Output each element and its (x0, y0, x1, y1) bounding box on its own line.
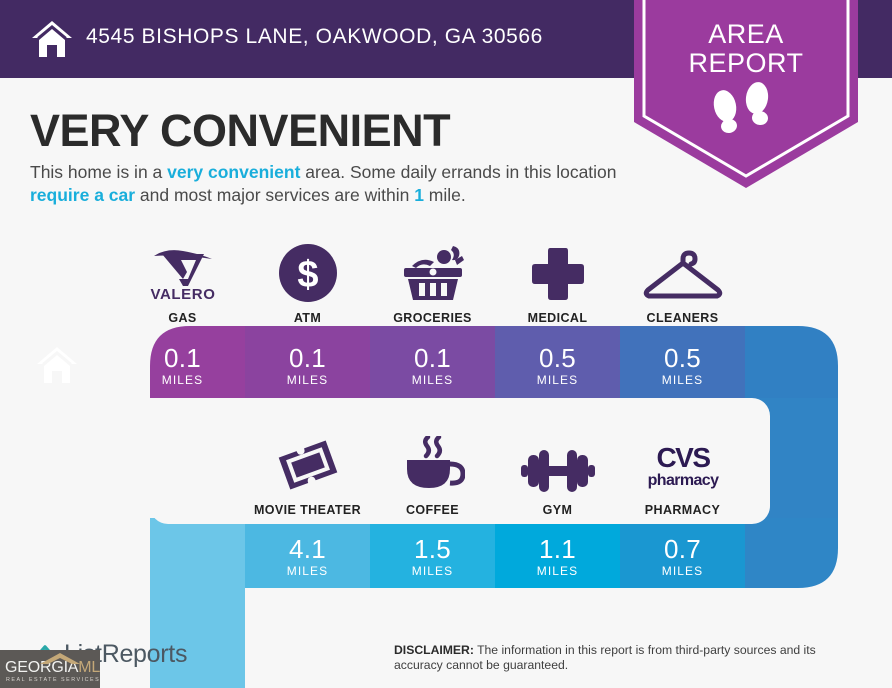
value-gas: 0.1 MILES (120, 345, 245, 387)
summary-part-4: mile. (424, 185, 466, 205)
ribbon-home-icon (36, 345, 78, 385)
value-coffee-number: 1.5 (370, 536, 495, 563)
value-groceries-number: 0.1 (370, 345, 495, 372)
category-gas: VALERO GAS (120, 240, 245, 325)
value-pharmacy-unit: MILES (620, 564, 745, 578)
category-gym-label: GYM (495, 503, 620, 517)
value-atm: 0.1 MILES (245, 345, 370, 387)
svg-text:CVS: CVS (656, 442, 710, 473)
svg-text:$: $ (297, 254, 318, 296)
value-gym-unit: MILES (495, 564, 620, 578)
category-medical-label: MEDICAL (495, 311, 620, 325)
category-groceries-label: GROCERIES (370, 311, 495, 325)
badge-line-1: AREA (634, 20, 858, 49)
value-cleaners-unit: MILES (620, 373, 745, 387)
summary-part-3: and most major services are within (135, 185, 414, 205)
coffee-cup-icon (370, 432, 495, 494)
value-coffee-unit: MILES (370, 564, 495, 578)
notch-card-lower (245, 588, 892, 688)
area-report-infographic: 4545 BISHOPS LANE, OAKWOOD, GA 30566 ARE… (0, 0, 892, 688)
basket-icon (370, 240, 495, 302)
value-medical-number: 0.5 (495, 345, 620, 372)
category-coffee: COFFEE (370, 432, 495, 517)
movie-ticket-icon (245, 432, 370, 494)
cvs-pharmacy-icon: CVS pharmacy (620, 432, 745, 494)
value-atm-number: 0.1 (245, 345, 370, 372)
category-atm-label: ATM (245, 311, 370, 325)
category-pharmacy-label: PHARMACY (620, 503, 745, 517)
value-cleaners: 0.5 MILES (620, 345, 745, 387)
category-pharmacy: CVS pharmacy PHARMACY (620, 432, 745, 517)
value-groceries: 0.1 MILES (370, 345, 495, 387)
georgia-mls-logo: GEORGIAMLS REAL ESTATE SERVICES (0, 650, 100, 688)
value-pharmacy: 0.7 MILES (620, 536, 745, 578)
summary-highlight-1: very convenient (167, 162, 300, 182)
georgia-mls-roof-icon (38, 651, 82, 665)
disclaimer-label: DISCLAIMER: (394, 643, 474, 657)
svg-text:VALERO: VALERO (150, 286, 215, 302)
summary-part-2: area. Some daily errands in this locatio… (300, 162, 616, 182)
area-report-badge: AREA REPORT (634, 0, 858, 188)
summary-text: This home is in a very convenient area. … (30, 161, 630, 207)
category-medical: MEDICAL (495, 240, 620, 325)
value-groceries-unit: MILES (370, 373, 495, 387)
summary-highlight-2: require a car (30, 185, 135, 205)
category-cleaners-label: CLEANERS (620, 311, 745, 325)
value-medical-unit: MILES (495, 373, 620, 387)
category-atm: $ ATM (245, 240, 370, 325)
ribbon-seg-tail-2 (745, 518, 890, 588)
summary-part-1: This home is in a (30, 162, 167, 182)
value-gym: 1.1 MILES (495, 536, 620, 578)
value-pharmacy-number: 0.7 (620, 536, 745, 563)
value-gas-number: 0.1 (120, 345, 245, 372)
category-groceries: GROCERIES (370, 240, 495, 325)
badge-title: AREA REPORT (634, 20, 858, 78)
category-gas-label: GAS (120, 311, 245, 325)
summary-highlight-3: 1 (414, 185, 424, 205)
ribbon-seg-tail-1 (745, 326, 890, 398)
value-coffee: 1.5 MILES (370, 536, 495, 578)
svg-text:pharmacy: pharmacy (647, 472, 718, 489)
value-gas-unit: MILES (120, 373, 245, 387)
valero-gas-icon: VALERO (120, 240, 245, 302)
category-coffee-label: COFFEE (370, 503, 495, 517)
dollar-coin-icon: $ (245, 240, 370, 302)
hanger-icon (620, 240, 745, 302)
badge-line-2: REPORT (634, 49, 858, 78)
category-cleaners: CLEANERS (620, 240, 745, 325)
georgia-mls-tagline: REAL ESTATE SERVICES (6, 677, 100, 683)
value-medical: 0.5 MILES (495, 345, 620, 387)
value-cleaners-number: 0.5 (620, 345, 745, 372)
category-gym: GYM (495, 432, 620, 517)
value-atm-unit: MILES (245, 373, 370, 387)
disclaimer: DISCLAIMER: The information in this repo… (394, 643, 862, 673)
medical-cross-icon (495, 240, 620, 302)
page-title: VERY CONVENIENT (30, 105, 450, 157)
value-movie-theater-number: 4.1 (245, 536, 370, 563)
value-movie-theater-unit: MILES (245, 564, 370, 578)
home-icon (30, 17, 74, 61)
category-movie-theater-label: MOVIE THEATER (245, 503, 370, 517)
value-movie-theater: 4.1 MILES (245, 536, 370, 578)
category-movie-theater: MOVIE THEATER (245, 432, 370, 517)
value-gym-number: 1.1 (495, 536, 620, 563)
property-address: 4545 BISHOPS LANE, OAKWOOD, GA 30566 (86, 25, 543, 49)
dumbbell-icon (495, 432, 620, 494)
